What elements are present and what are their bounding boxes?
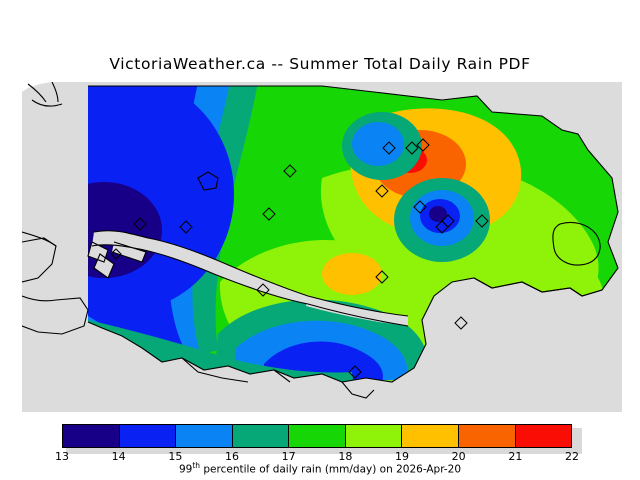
colorbar — [62, 424, 578, 450]
colorbar-band-15-16 — [176, 425, 233, 447]
contour-band-19-20-central-pocket — [322, 253, 382, 295]
contour-band-15-16-north-pocket — [352, 122, 404, 166]
colorbar-band-19-20 — [402, 425, 459, 447]
colorbar-band-14-15 — [120, 425, 177, 447]
caption-ordinal-suffix: th — [192, 461, 200, 470]
colorbar-bands — [62, 424, 572, 448]
colorbar-band-21-22 — [516, 425, 572, 447]
colorbar-band-20-21 — [459, 425, 516, 447]
colorbar-band-18-19 — [346, 425, 403, 447]
contour-band-13-14-east-bullseye — [429, 206, 447, 222]
weather-map-page: VictoriaWeather.ca -- Summer Total Daily… — [0, 0, 640, 480]
caption-suffix: percentile of daily rain (mm/day) on 202… — [200, 464, 461, 476]
colorbar-caption: 99th percentile of daily rain (mm/day) o… — [0, 461, 640, 476]
page-title: VictoriaWeather.ca -- Summer Total Daily… — [0, 55, 640, 73]
colorbar-band-13-14 — [63, 425, 120, 447]
map-plot-area — [22, 82, 622, 412]
caption-prefix: 99 — [179, 464, 192, 476]
colorbar-band-16-17 — [233, 425, 290, 447]
colorbar-band-17-18 — [289, 425, 346, 447]
contour-map-svg — [22, 82, 622, 412]
